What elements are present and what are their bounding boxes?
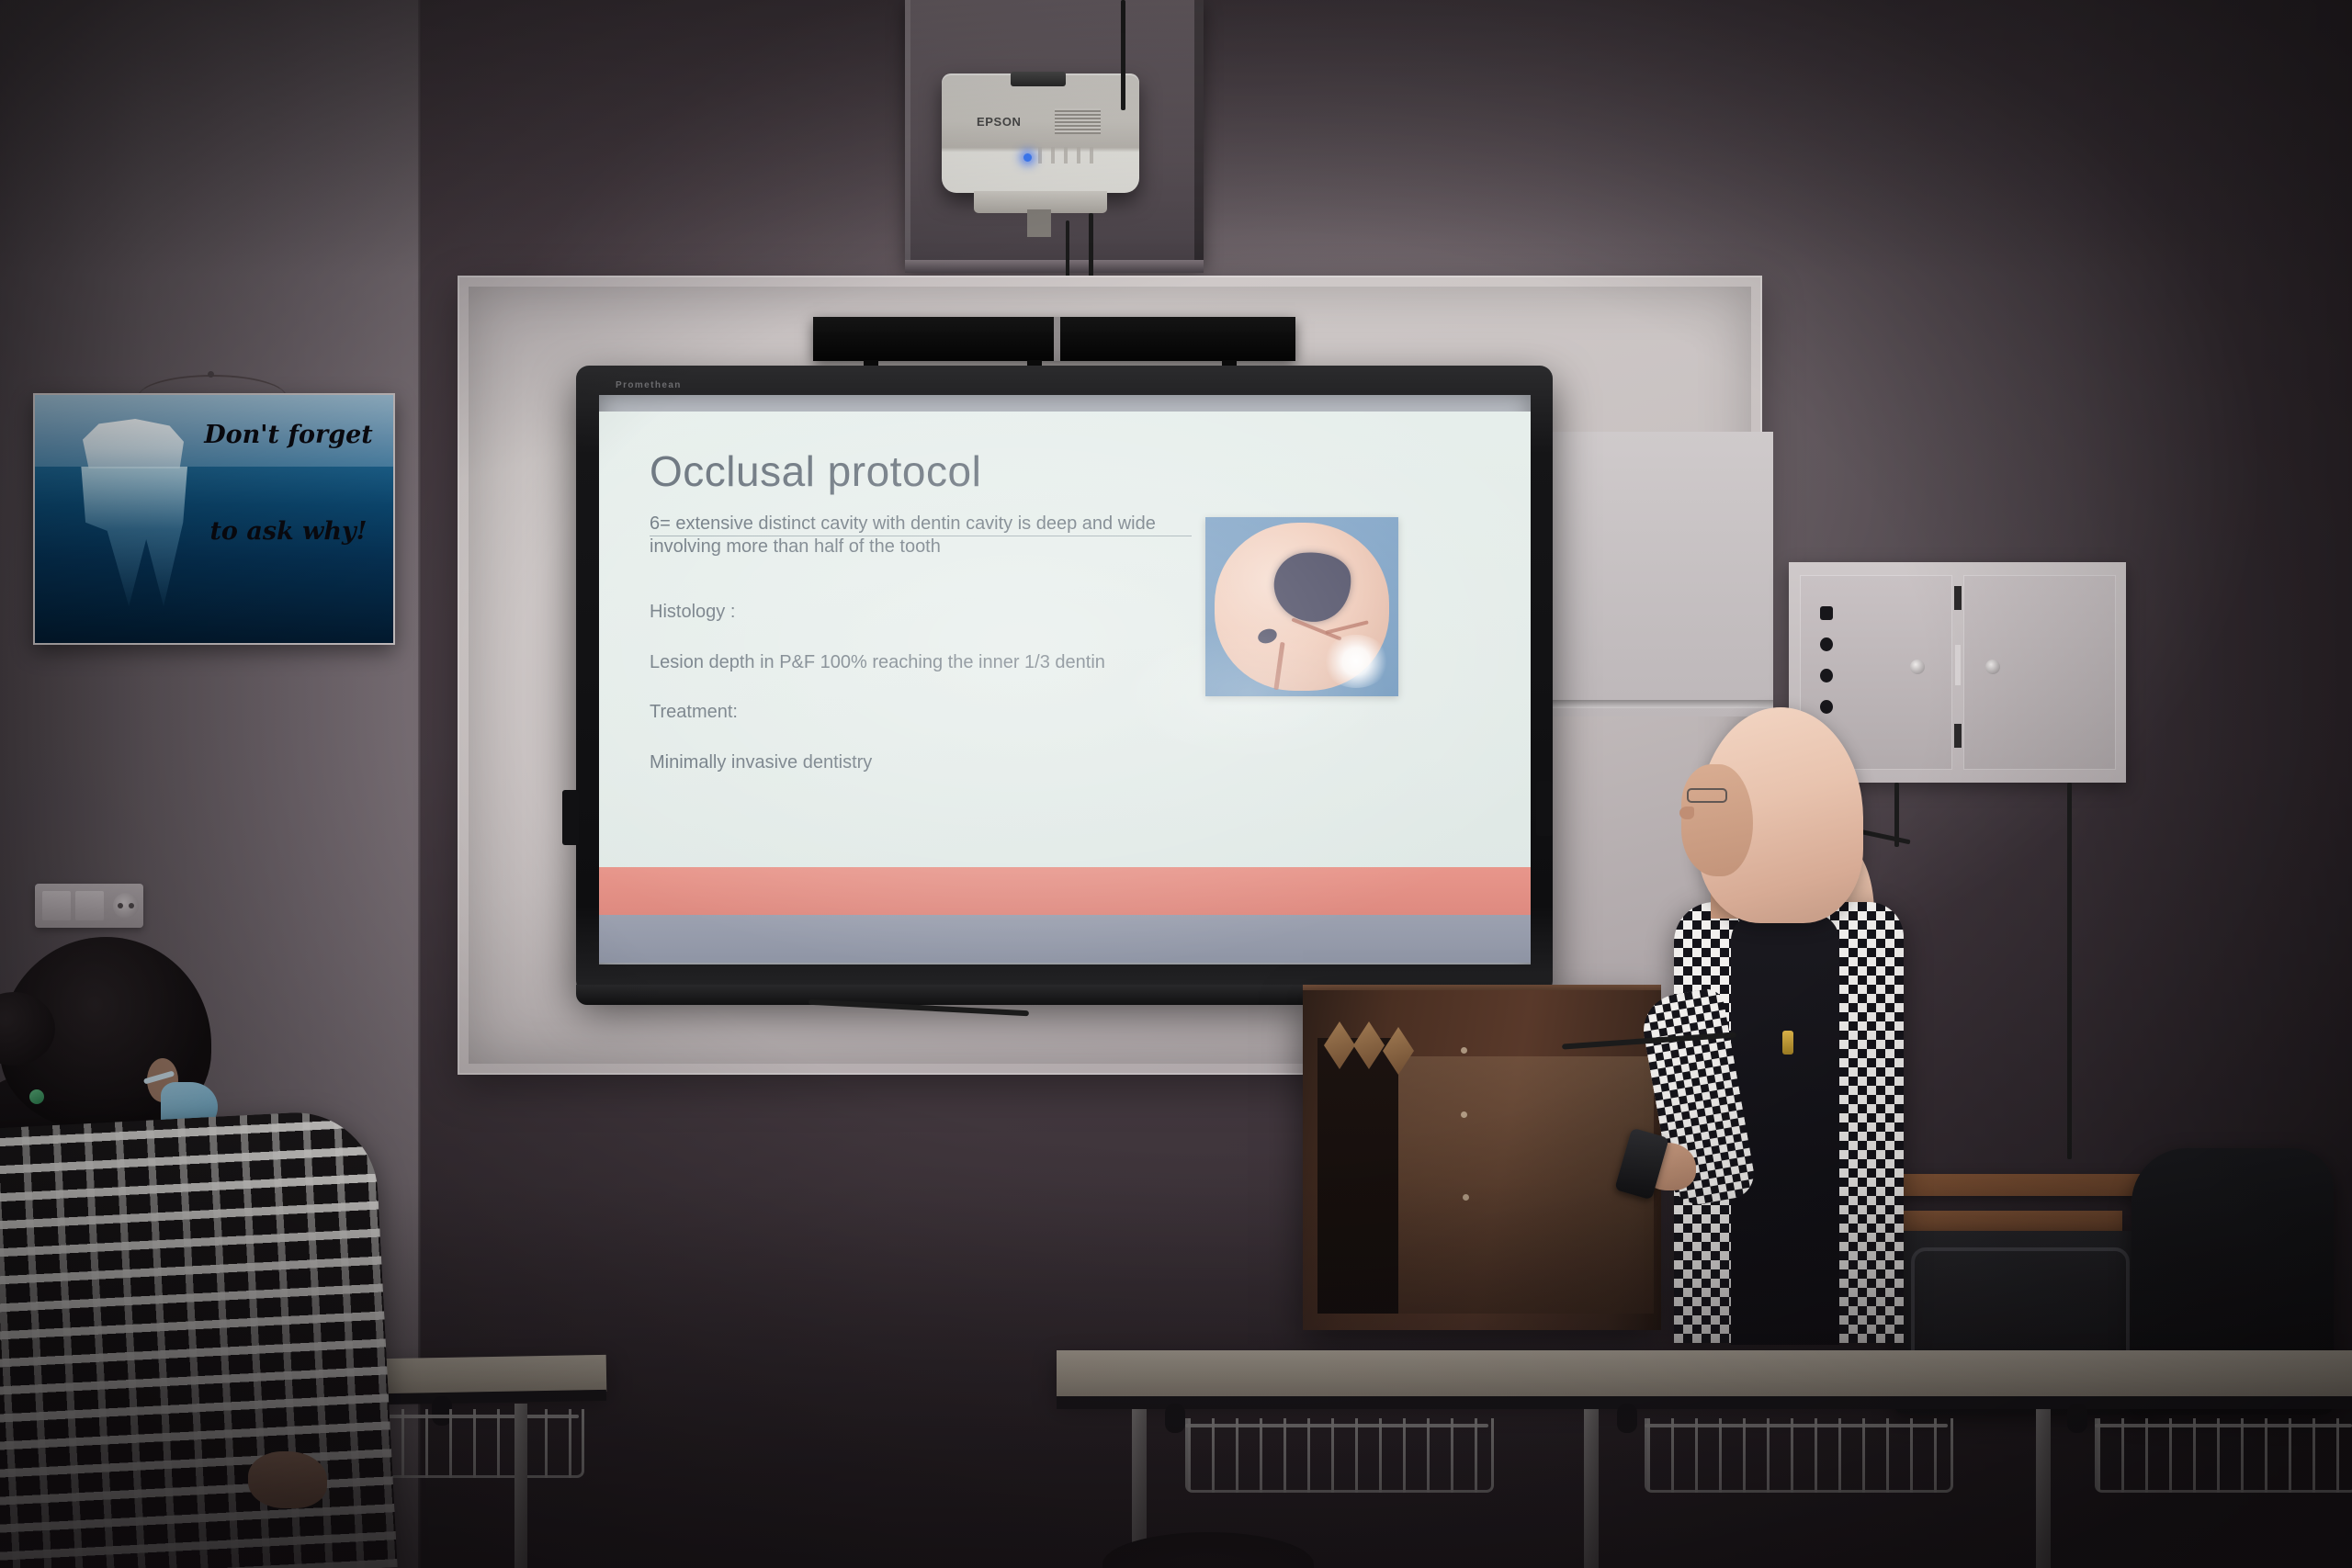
slide-line-lesion-depth: Lesion depth in P&F 100% reaching the in…	[650, 651, 1210, 673]
soffit-edge-right	[1194, 0, 1204, 266]
soffit-edge-left	[905, 0, 910, 266]
slide-line-histology: Histology :	[650, 601, 1210, 623]
cabinet-knob-right[interactable]	[1985, 660, 2000, 674]
projector-power-led-icon	[1023, 153, 1032, 162]
cabinet-socket-1	[1820, 606, 1833, 620]
wall-cable-right	[2067, 783, 2072, 1159]
cabinet-hinge-top	[1954, 586, 1962, 610]
cabinet-door-right[interactable]	[1963, 575, 2116, 770]
board-side-mount-left	[562, 790, 579, 845]
photo-specular-highlight	[1323, 635, 1389, 688]
occlusal-caries-photo	[1205, 517, 1398, 696]
projector-cable	[1121, 0, 1125, 110]
lapel-pin	[1782, 1031, 1793, 1055]
light-switch-plate[interactable]	[35, 884, 143, 928]
projector-control-buttons[interactable]	[1038, 147, 1102, 164]
cabinet-socket-2	[1820, 637, 1833, 651]
poster-nail	[208, 371, 214, 378]
slide-title: Occlusal protocol	[650, 446, 981, 496]
light-switch-2[interactable]	[75, 891, 104, 920]
board-brand-label: Promethean	[616, 380, 682, 390]
cabinet-knob-left[interactable]	[1910, 660, 1925, 674]
iceberg-tip-icon	[83, 419, 184, 468]
cabinet-socket-3	[1820, 669, 1833, 682]
slide-lead-text: 6= extensive distinct cavity with dentin…	[650, 513, 1210, 558]
floor-shadow	[0, 1182, 2352, 1568]
projector-lens	[1011, 72, 1066, 86]
presenter-face	[1681, 764, 1753, 876]
whiteboard	[1543, 432, 1773, 716]
eyeglasses-icon	[1687, 788, 1727, 803]
slide-accent-band	[599, 867, 1531, 915]
board-screen[interactable]: Occlusal protocol 6= extensive distinct …	[599, 395, 1531, 964]
wall-poster: Don't forget to ask why!	[33, 393, 395, 645]
poster-text-line2: to ask why!	[197, 517, 380, 546]
cabinet-hinge-bottom	[1954, 724, 1962, 748]
light-switch-1[interactable]	[42, 891, 71, 920]
power-socket	[113, 893, 139, 919]
classroom-scene: EPSON Promethean Occlusal protocol 6= ex…	[0, 0, 2352, 1568]
slide-line-minimally-invasive: Minimally invasive dentistry	[650, 751, 1210, 773]
podium-screw-1	[1461, 1047, 1467, 1054]
presentation-slide: Occlusal protocol 6= extensive distinct …	[599, 412, 1531, 963]
epson-projector	[942, 73, 1139, 193]
slide-footer-band	[599, 915, 1531, 963]
board-side-mount-right	[1536, 781, 1553, 836]
poster-text-line1: Don't forget	[197, 421, 380, 449]
earring	[29, 1089, 44, 1104]
slide-body: 6= extensive distinct cavity with dentin…	[650, 513, 1210, 801]
cabinet-latch[interactable]	[1955, 645, 1961, 685]
slide-line-treatment: Treatment:	[650, 701, 1210, 723]
projector-brand-label: EPSON	[977, 115, 1078, 129]
podium-screw-2	[1461, 1111, 1467, 1118]
soundbar-divider	[1054, 317, 1060, 361]
socket-hole-left	[118, 903, 123, 908]
socket-hole-right	[129, 903, 134, 908]
presenter-nose	[1679, 807, 1694, 819]
projector-mount-post	[1027, 209, 1051, 237]
soffit-lip	[905, 260, 1204, 273]
